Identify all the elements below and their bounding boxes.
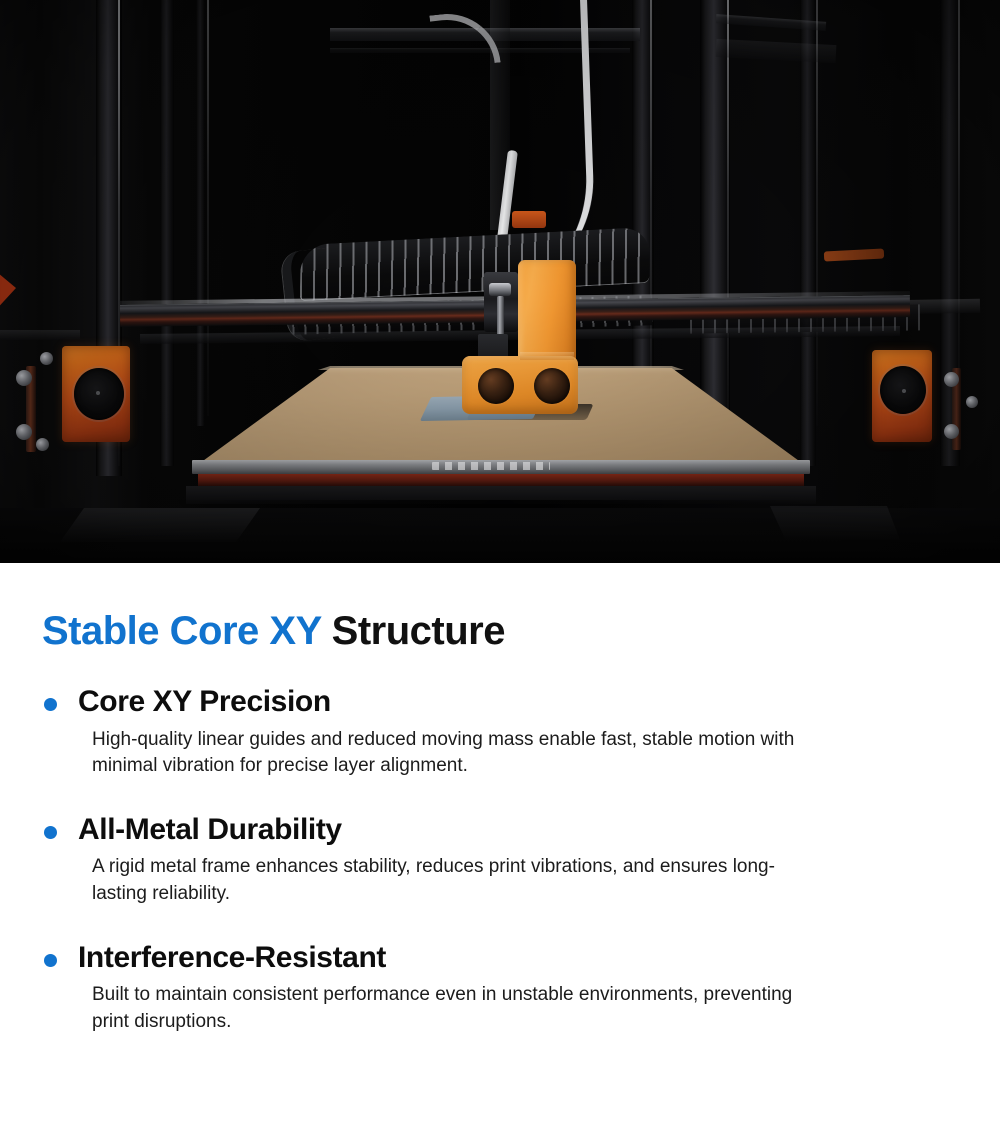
bolt-icon <box>966 396 978 408</box>
feature-title: Core XY Precision <box>78 683 960 721</box>
carriage-clamp <box>489 283 511 296</box>
pulley-icon <box>880 366 926 414</box>
bolt-icon <box>16 424 32 440</box>
frame-rail-icon <box>196 0 205 426</box>
bullet-dot-icon <box>44 698 57 711</box>
cooling-fan-icon <box>534 368 570 404</box>
base-panel <box>60 508 260 542</box>
rail-highlight <box>207 0 209 416</box>
frame-rail-icon <box>700 0 730 426</box>
bolt-icon <box>36 438 49 451</box>
page-title-plain: Structure <box>321 609 505 653</box>
frame-rail-icon <box>160 0 174 466</box>
pulley-icon <box>74 368 124 420</box>
bolt-icon <box>944 424 959 439</box>
rear-rail <box>0 330 80 340</box>
bed-heater <box>198 474 804 486</box>
bullet-dot-icon <box>44 954 57 967</box>
feature-list: Core XY Precision High-quality linear gu… <box>42 683 960 1035</box>
page-title: Stable Core XY Structure <box>42 563 960 653</box>
orange-accent-part <box>512 211 546 228</box>
feature-title: All-Metal Durability <box>78 811 960 849</box>
bullet-dot-icon <box>44 826 57 839</box>
feature-description: A rigid metal frame enhances stability, … <box>92 854 822 906</box>
feature-title: Interference-Resistant <box>78 939 960 977</box>
list-item: All-Metal Durability A rigid metal frame… <box>42 811 960 907</box>
base-panel <box>770 506 900 540</box>
list-item: Interference-Resistant Built to maintain… <box>42 939 960 1035</box>
page-title-accent: Stable Core XY <box>42 609 321 653</box>
product-feature-page: Stable Core XY Structure Core XY Precisi… <box>0 0 1000 1132</box>
feature-description: Built to maintain consistent performance… <box>92 982 822 1034</box>
feature-description: High-quality linear guides and reduced m… <box>92 727 822 779</box>
rail-highlight <box>816 0 818 426</box>
orange-accent-part <box>0 268 16 314</box>
bolt-icon <box>944 372 959 387</box>
left-orange-motor-mount <box>62 346 130 442</box>
bolt-icon <box>40 352 53 365</box>
bolt-icon <box>16 370 32 386</box>
feature-content: Stable Core XY Structure Core XY Precisi… <box>0 563 1000 1035</box>
cooling-fan-icon <box>478 368 514 404</box>
bed-logo <box>432 462 550 470</box>
list-item: Core XY Precision High-quality linear gu… <box>42 683 960 779</box>
hero-image <box>0 0 1000 563</box>
right-orange-motor-mount <box>872 350 932 442</box>
frame-rail-icon <box>800 0 816 466</box>
rail-highlight <box>727 0 729 436</box>
printer-photo <box>0 0 1000 563</box>
print-head-seam <box>520 352 574 360</box>
